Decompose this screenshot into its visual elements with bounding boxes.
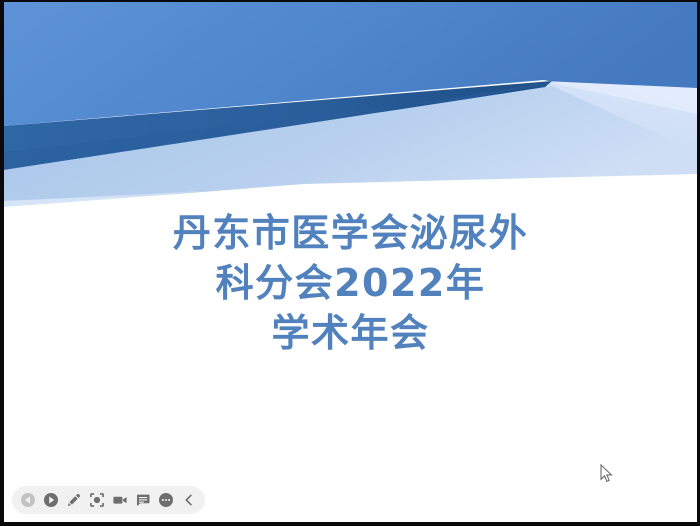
chevron-left-icon	[181, 492, 197, 508]
video-camera-button[interactable]: 录制	[109, 489, 131, 511]
previous-slide-icon	[20, 492, 36, 508]
pen-button[interactable]: 画笔	[63, 489, 85, 511]
laser-pointer-button[interactable]: 激光笔	[86, 489, 108, 511]
more-options-button[interactable]: 更多	[155, 489, 177, 511]
slide-title-line-1: 丹东市医学会泌尿外	[44, 208, 657, 258]
previous-slide-button[interactable]: 上一页	[17, 489, 39, 511]
laser-pointer-icon	[89, 492, 105, 508]
diagonal-blue-banner	[4, 2, 697, 232]
playback-toolbar: 上一页 播放 画笔	[12, 486, 205, 514]
slide-title-line-2: 科分会2022年	[44, 258, 657, 308]
play-button[interactable]: 播放	[40, 489, 62, 511]
pen-icon	[66, 492, 82, 508]
caption-icon	[135, 492, 151, 508]
app-window: 丹东市医学会泌尿外 科分会2022年 学术年会 上一页 播放	[0, 0, 700, 526]
slide-canvas[interactable]: 丹东市医学会泌尿外 科分会2022年 学术年会 上一页 播放	[4, 2, 697, 522]
more-options-icon	[158, 492, 174, 508]
slide-title: 丹东市医学会泌尿外 科分会2022年 学术年会	[4, 208, 697, 358]
slide-title-line-3: 学术年会	[44, 308, 657, 358]
play-icon	[43, 492, 59, 508]
collapse-toolbar-button[interactable]: 收起	[178, 489, 200, 511]
caption-button[interactable]: 字幕	[132, 489, 154, 511]
video-camera-icon	[112, 492, 128, 508]
mouse-pointer	[600, 464, 613, 483]
